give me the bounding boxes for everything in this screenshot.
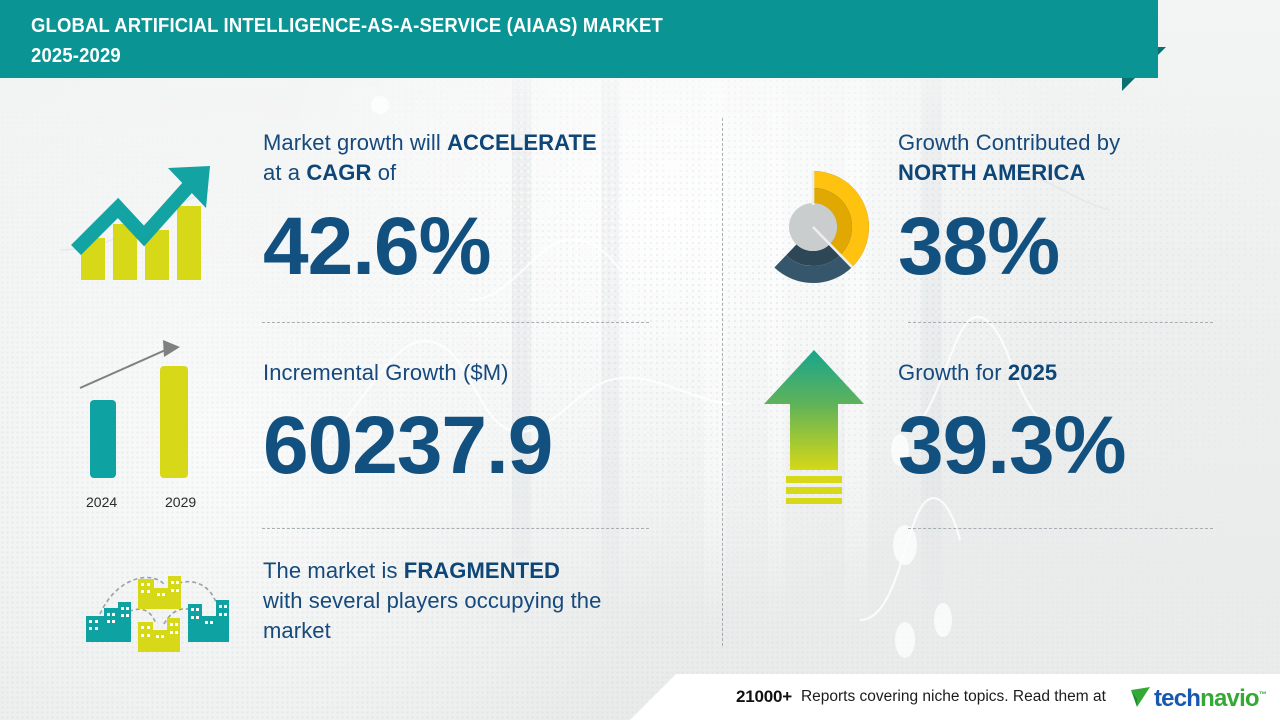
incremental-growth-value: 60237.9 (263, 404, 693, 488)
footer-text: Reports covering niche topics. Read them… (801, 688, 1106, 706)
yearly-growth-label: Growth for 2025 (898, 358, 1228, 388)
fragmented-market-icon (78, 562, 238, 659)
fragmentation-part3: market (263, 618, 331, 643)
right-divider-1 (908, 322, 1213, 323)
contribution-region: NORTH AMERICA (898, 160, 1085, 185)
fragmentation-block: The market is FRAGMENTED with several pl… (263, 556, 693, 646)
yearly-growth-value: 39.3% (898, 404, 1228, 488)
cagr-value: 42.6% (263, 205, 683, 289)
header-title-line2: 2025-2029 (31, 41, 985, 71)
footer: 21000+ Reports covering niche topics. Re… (0, 674, 1280, 720)
contribution-block: Growth Contributed by NORTH AMERICA 38% (898, 128, 1228, 289)
header-title-line1: GLOBAL ARTIFICIAL INTELLIGENCE-AS-A-SERV… (31, 11, 985, 41)
fragmentation-bold: FRAGMENTED (404, 558, 560, 583)
logo-text-tech: tech (1154, 685, 1200, 712)
column-divider (722, 118, 723, 646)
yearly-growth-year: 2025 (1008, 360, 1057, 385)
cagr-label-part2: at a (263, 160, 306, 185)
yearly-growth-part1: Growth for (898, 360, 1008, 385)
logo-text-navio: navio (1200, 685, 1259, 712)
technavio-arrow-icon (1129, 685, 1151, 709)
cagr-block: Market growth will ACCELERATE at a CAGR … (263, 128, 683, 289)
cagr-label: Market growth will ACCELERATE at a CAGR … (263, 128, 683, 188)
cagr-label-cagr: CAGR (306, 160, 371, 185)
left-divider-1 (262, 322, 649, 323)
yearly-growth-block: Growth for 2025 39.3% (898, 358, 1228, 488)
up-arrow-icon (762, 348, 866, 511)
cagr-label-part3: of (372, 160, 397, 185)
fragmentation-part2: with several players occupying the (263, 588, 601, 613)
infographic-canvas: GLOBAL ARTIFICIAL INTELLIGENCE-AS-A-SERV… (0, 0, 1280, 720)
technavio-logo[interactable]: technavio™ (1129, 683, 1266, 711)
bar-label-2029: 2029 (165, 494, 196, 510)
right-divider-2 (908, 528, 1213, 529)
header-title: GLOBAL ARTIFICIAL INTELLIGENCE-AS-A-SERV… (31, 11, 985, 71)
bar-label-2024: 2024 (86, 494, 117, 510)
bar-compare-icon (70, 338, 230, 493)
contribution-value: 38% (898, 205, 1228, 289)
contribution-label: Growth Contributed by NORTH AMERICA (898, 128, 1228, 188)
incremental-growth-block: Incremental Growth ($M) 60237.9 (263, 358, 693, 488)
growth-chart-icon (70, 150, 230, 295)
footer-content: 21000+ Reports covering niche topics. Re… (736, 674, 1272, 720)
contribution-part1: Growth Contributed by (898, 130, 1120, 155)
logo-trademark: ™ (1259, 690, 1266, 699)
incremental-growth-label: Incremental Growth ($M) (263, 358, 693, 388)
donut-chart-icon (748, 162, 878, 297)
cagr-label-accelerate: ACCELERATE (447, 130, 597, 155)
reports-count: 21000+ (736, 687, 792, 707)
fragmentation-part1: The market is (263, 558, 404, 583)
left-divider-2 (262, 528, 649, 529)
cagr-label-part1: Market growth will (263, 130, 447, 155)
fragmentation-label: The market is FRAGMENTED with several pl… (263, 556, 693, 646)
